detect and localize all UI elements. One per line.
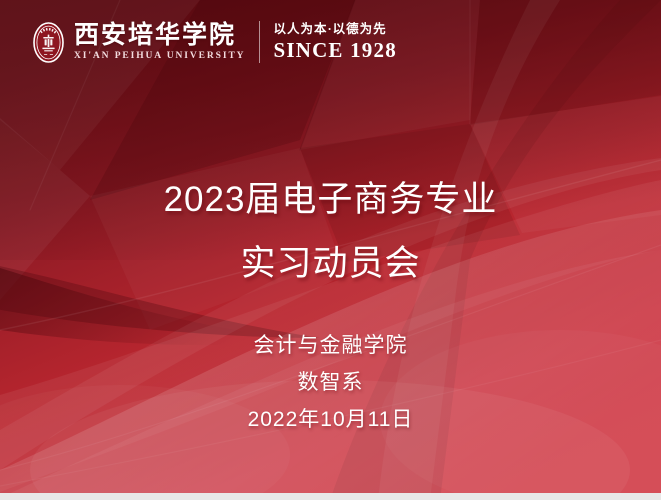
title-slide: 西安培华学院 XI'AN PEIHUA UNIVERSITY 以人为本·以德为先… <box>0 0 661 500</box>
subtitle-date: 2022年10月11日 <box>0 401 661 438</box>
title-line-2: 实习动员会 <box>0 232 661 296</box>
university-seal-icon <box>32 21 65 64</box>
subtitle-college: 会计与金融学院 <box>0 327 661 364</box>
brand-slogan: 以人为本·以德为先 SINCE 1928 <box>273 22 396 63</box>
subtitle-department: 数智系 <box>0 364 661 401</box>
slide-subtitle: 会计与金融学院 数智系 2022年10月11日 <box>0 327 661 438</box>
university-name-en: XI'AN PEIHUA UNIVERSITY <box>74 51 245 62</box>
title-line-1: 2023届电子商务专业 <box>0 168 661 232</box>
university-name-cn: 西安培华学院 <box>74 22 245 49</box>
brand-names: 西安培华学院 XI'AN PEIHUA UNIVERSITY <box>74 22 245 62</box>
brand-divider <box>259 21 260 63</box>
seal-emblem-icon <box>32 21 65 64</box>
slogan-since: SINCE 1928 <box>273 39 396 63</box>
brand-header: 西安培华学院 XI'AN PEIHUA UNIVERSITY 以人为本·以德为先… <box>0 0 661 84</box>
slogan-cn: 以人为本·以德为先 <box>273 22 396 37</box>
slide-title: 2023届电子商务专业 实习动员会 <box>0 168 661 296</box>
bottom-strip <box>0 493 661 500</box>
